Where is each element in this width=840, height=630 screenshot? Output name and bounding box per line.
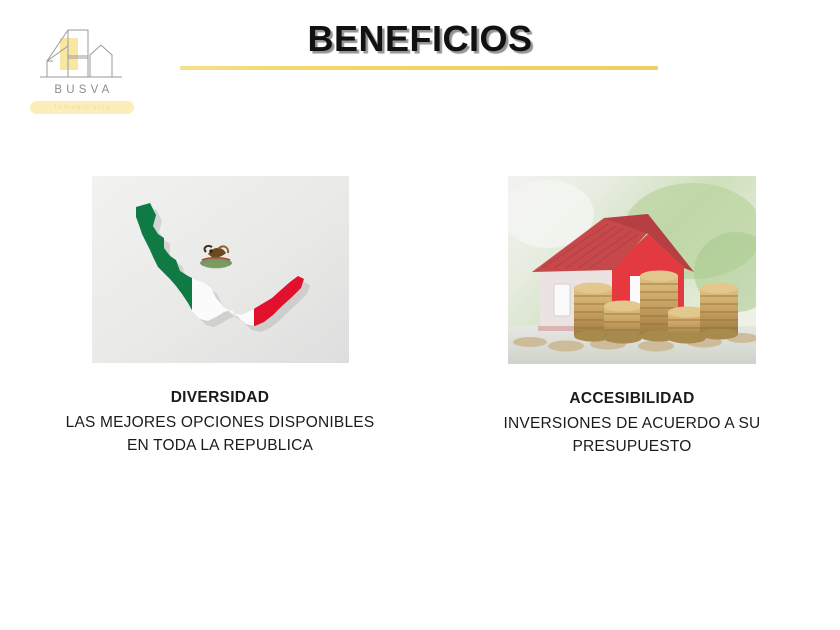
title-divider (180, 66, 658, 70)
brand-tagline: Inmobiliaria (30, 102, 134, 113)
benefit-caption-diversidad: DIVERSIDAD LAS MEJORES OPCIONES DISPONIB… (18, 388, 422, 457)
slide-beneficios: BUSVA Inmobiliaria BENEFICIOS (0, 0, 840, 630)
benefit-body: INVERSIONES DE ACUERDO A SU PRESUPUESTO (452, 412, 812, 458)
benefit-heading: DIVERSIDAD (18, 388, 422, 408)
house-with-coins-image (508, 176, 756, 364)
benefit-body-line: INVERSIONES DE ACUERDO A SU (452, 412, 812, 435)
benefit-body: LAS MEJORES OPCIONES DISPONIBLES EN TODA… (18, 411, 422, 457)
benefit-body-line: PRESUPUESTO (452, 435, 812, 458)
brand-name: BUSVA (26, 84, 138, 96)
benefit-body-line: EN TODA LA REPUBLICA (18, 434, 422, 457)
page-title: BENEFICIOS (0, 18, 840, 60)
benefit-column-diversidad: DIVERSIDAD LAS MEJORES OPCIONES DISPONIB… (18, 176, 422, 457)
benefit-column-accesibilidad: ACCESIBILIDAD INVERSIONES DE ACUERDO A S… (452, 176, 812, 458)
mexico-map-flag-image (92, 176, 349, 363)
benefit-caption-accesibilidad: ACCESIBILIDAD INVERSIONES DE ACUERDO A S… (452, 389, 812, 458)
benefit-body-line: LAS MEJORES OPCIONES DISPONIBLES (18, 411, 422, 434)
benefit-heading: ACCESIBILIDAD (452, 389, 812, 409)
